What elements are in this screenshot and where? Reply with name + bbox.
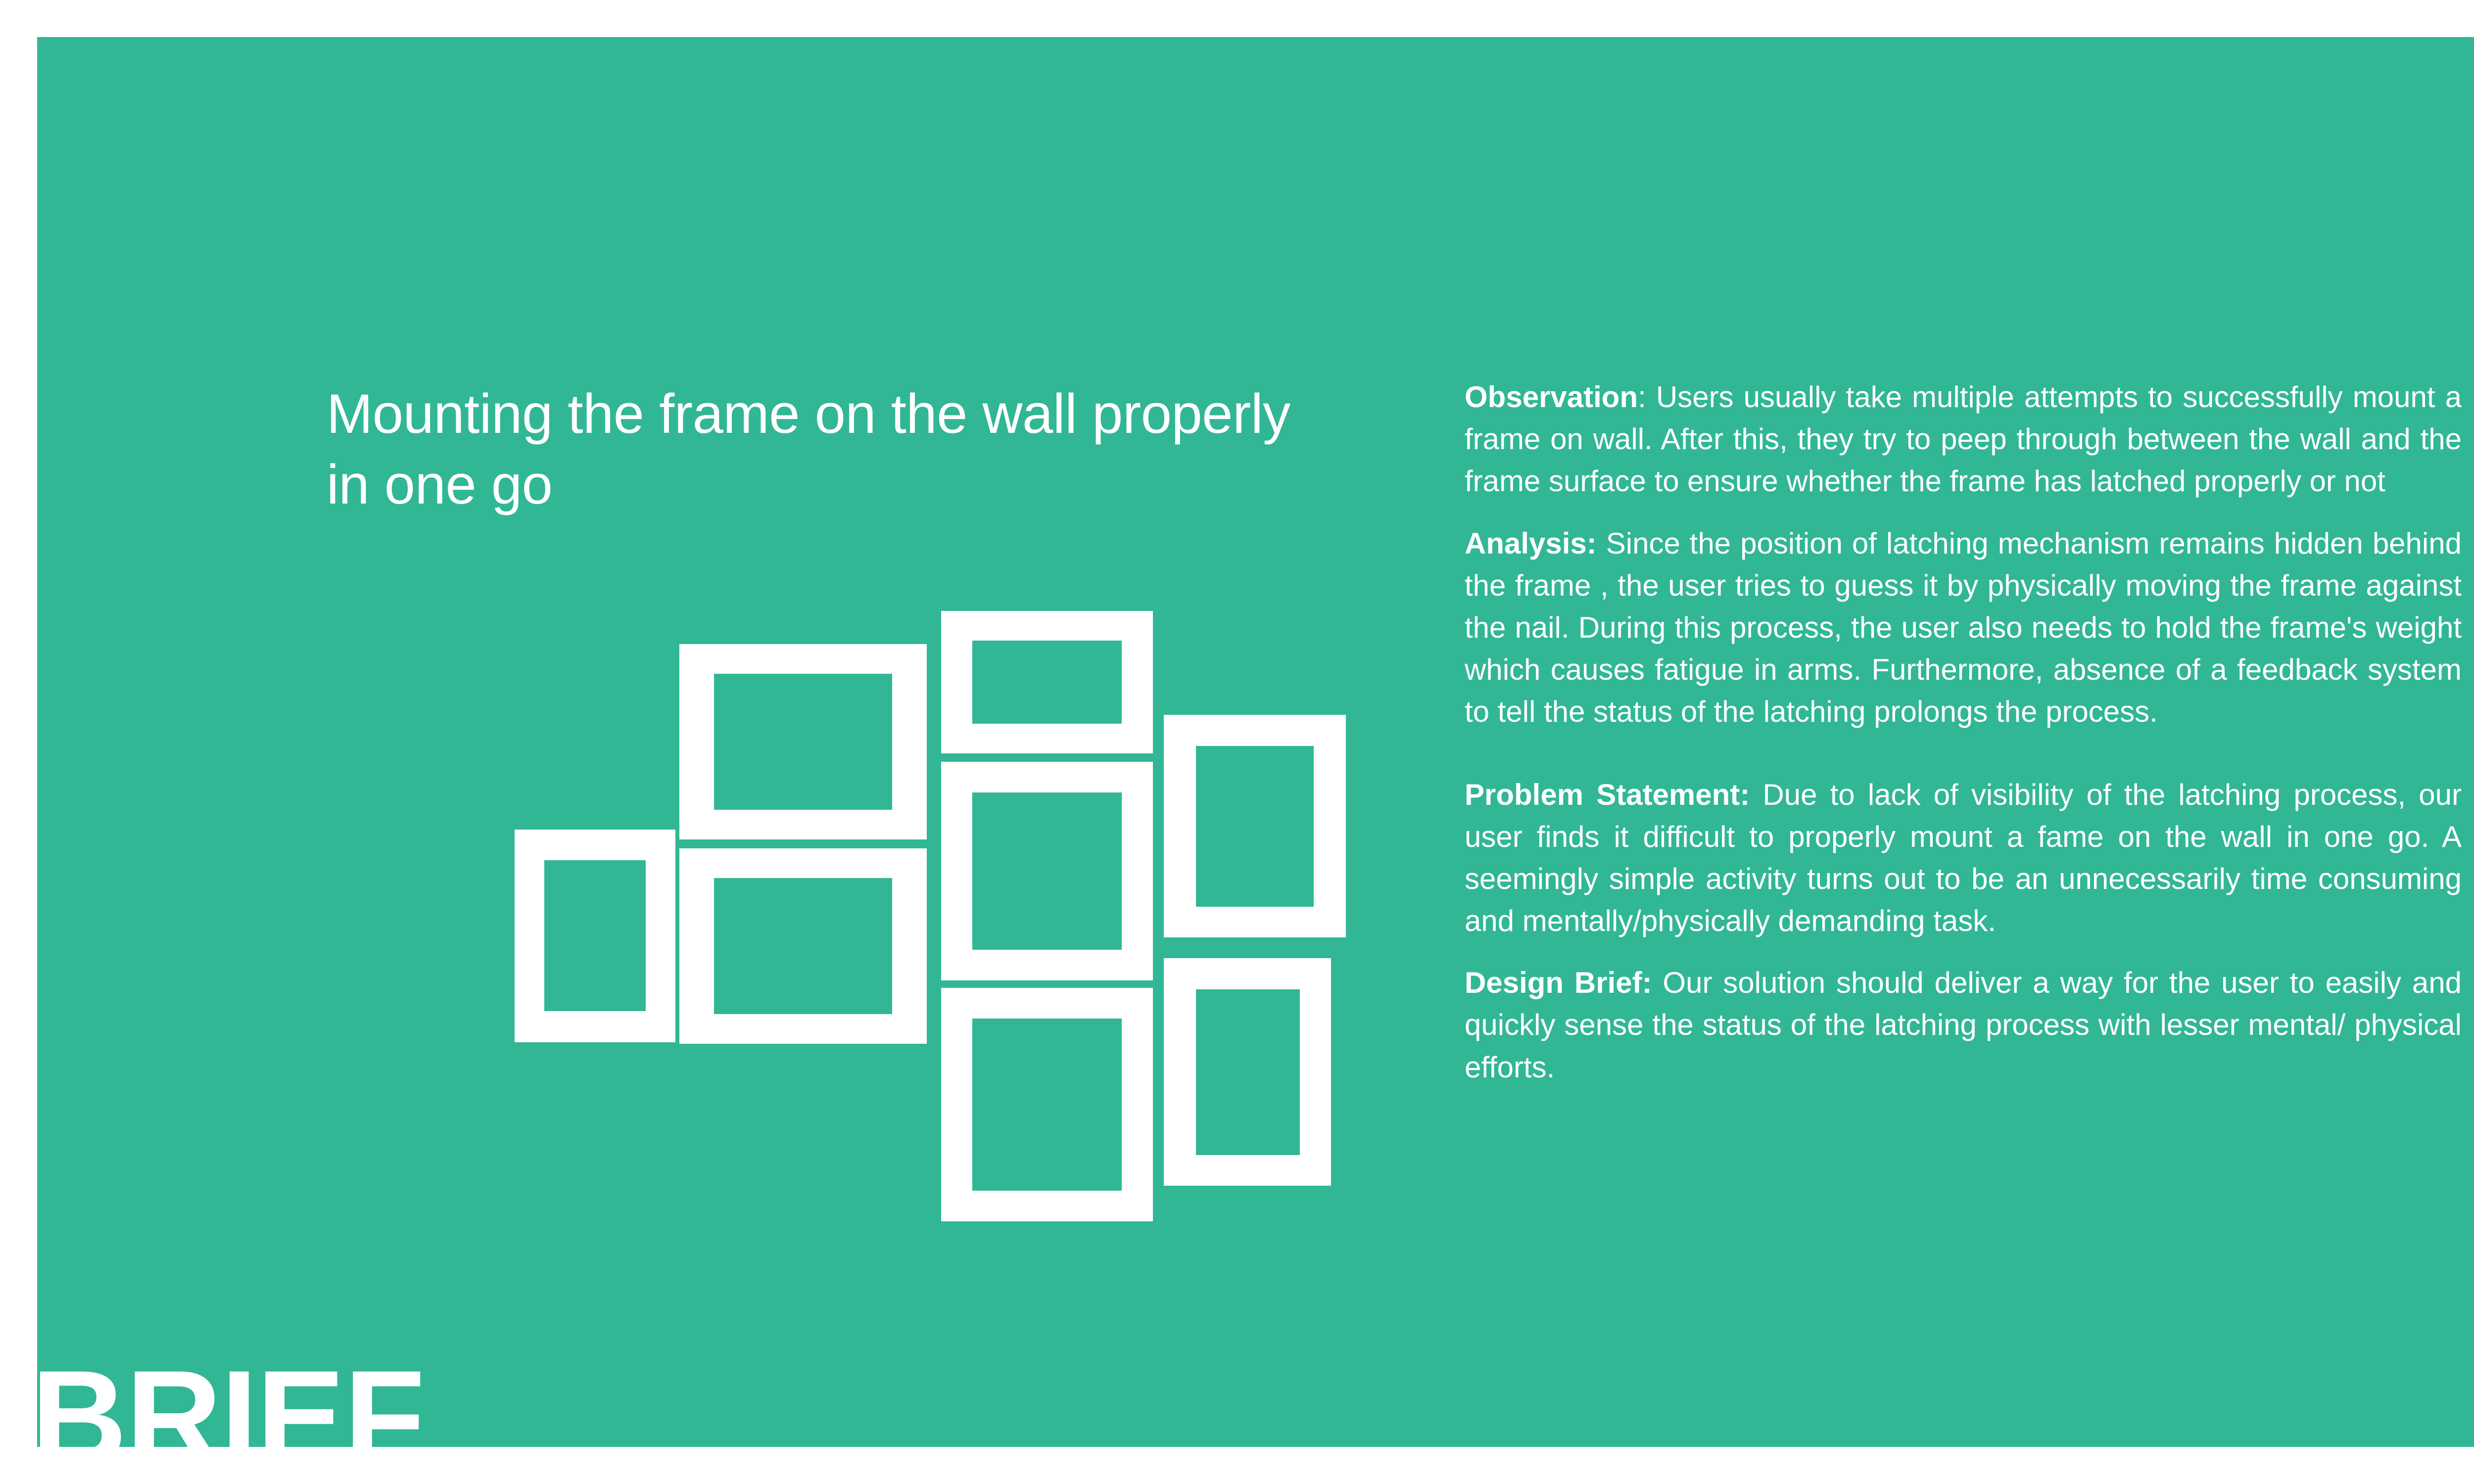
problem-statement-paragraph: Problem Statement: Due to lack of visibi… [1465,774,2462,942]
frame-mat [1196,746,1314,907]
frame-mat [1196,989,1300,1155]
title-block: Mounting the frame on the wall properly … [327,378,1415,520]
frame-mat [972,792,1122,950]
frame-mat [714,674,892,810]
problem-statement-label: Problem Statement: [1465,778,1750,811]
picture-frame-7 [1164,715,1346,937]
frame-mat [972,1019,1122,1191]
brief-text-column: Observation: Users usually take multiple… [1465,376,2462,1088]
slide-canvas: Mounting the frame on the wall properly … [37,37,2474,1447]
picture-frame-3 [679,848,927,1044]
observation-label: Observation [1465,380,1638,414]
analysis-body: Since the position of latching mechanism… [1465,527,2462,729]
frame-mat [714,878,892,1014]
picture-frame-2 [679,644,927,839]
picture-frame-gallery-illustration [510,606,1395,1378]
section-wordmark: BRIEF [37,1361,424,1447]
frame-mat [972,641,1122,724]
frame-mat [544,860,646,1011]
picture-frame-5 [941,762,1153,980]
picture-frame-1 [515,830,675,1042]
page-title: Mounting the frame on the wall properly … [327,378,1415,520]
picture-frame-6 [941,988,1153,1221]
observation-paragraph: Observation: Users usually take multiple… [1465,376,2462,503]
analysis-label: Analysis: [1465,527,1597,560]
picture-frame-8 [1164,958,1331,1186]
design-brief-paragraph: Design Brief: Our solution should delive… [1465,962,2462,1088]
analysis-paragraph: Analysis: Since the position of latching… [1465,522,2462,733]
paragraph-spacer [1465,753,2462,774]
design-brief-label: Design Brief: [1465,966,1652,999]
picture-frame-4 [941,611,1153,753]
